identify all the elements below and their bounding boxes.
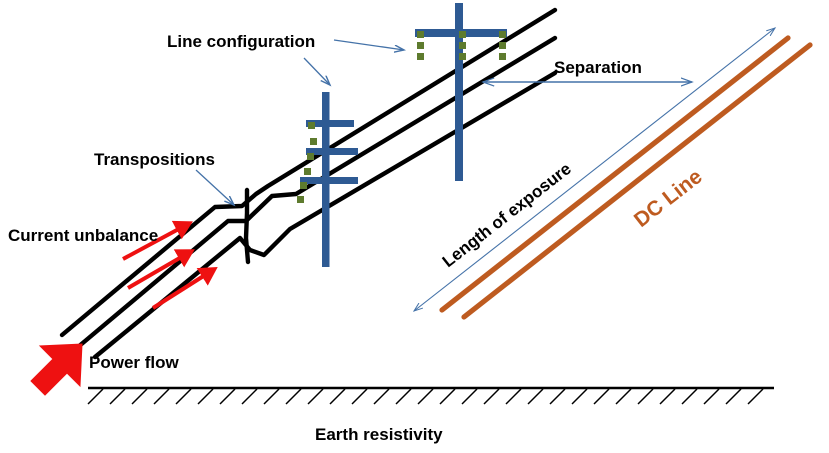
power-flow-arrow xyxy=(31,344,82,395)
label-current-unbalance: Current unbalance xyxy=(8,226,158,245)
left-tower-crossarm-bottom xyxy=(300,177,358,184)
label-separation: Separation xyxy=(554,58,642,77)
leader-line-configuration-left xyxy=(304,58,330,85)
label-power-flow: Power flow xyxy=(89,353,180,372)
earth-hatching xyxy=(88,389,763,404)
label-line-configuration: Line configuration xyxy=(167,32,315,51)
right-tower xyxy=(415,3,507,181)
label-transpositions: Transpositions xyxy=(94,150,215,169)
earth-ground xyxy=(88,388,774,404)
dc-conductor-2 xyxy=(464,45,810,317)
left-tower xyxy=(297,92,358,267)
leader-transpositions xyxy=(196,170,234,205)
leader-line-configuration-right xyxy=(334,40,404,50)
label-earth-resistivity: Earth resistivity xyxy=(315,425,443,444)
dc-line-conductors xyxy=(442,38,810,317)
diagram-canvas: Line configuration Transpositions Curren… xyxy=(0,0,829,453)
transposition-jumper xyxy=(246,190,248,262)
diagram-svg: Line configuration Transpositions Curren… xyxy=(0,0,829,453)
dc-conductor-1 xyxy=(442,38,788,310)
